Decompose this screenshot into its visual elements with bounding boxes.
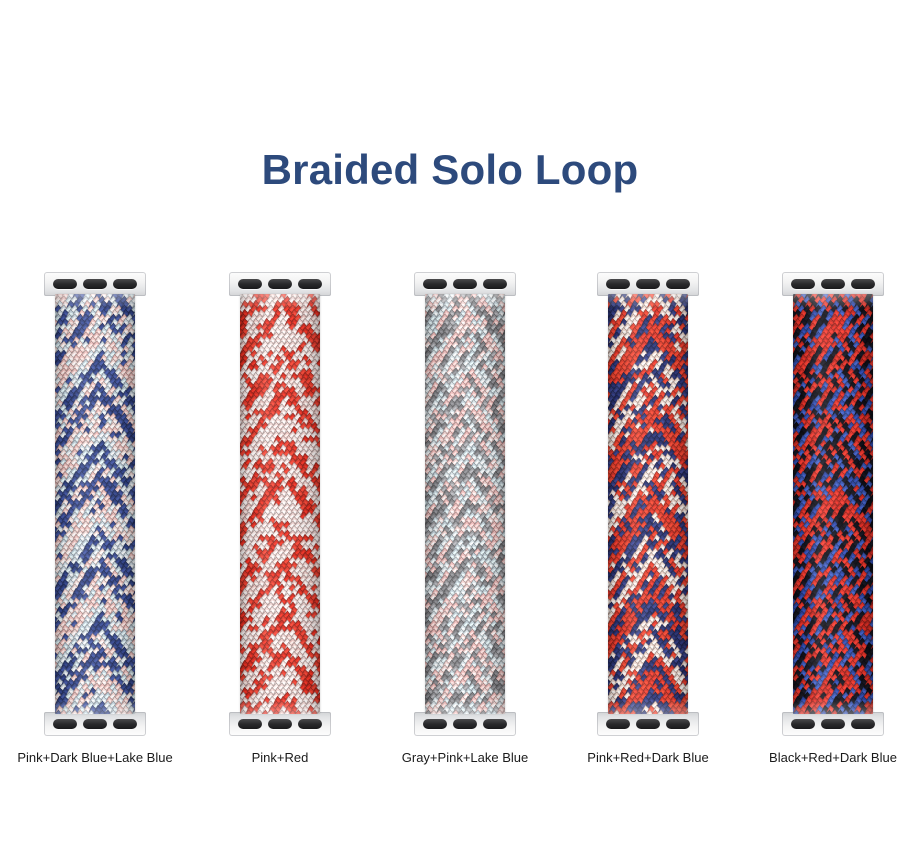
band-figure: [375, 272, 555, 740]
band-item[interactable]: Black+Red+Dark Blue: [743, 272, 900, 792]
braid-texture: [55, 294, 135, 714]
lug-slot: [423, 719, 447, 729]
page-title: Braided Solo Loop: [0, 146, 900, 194]
lug-slot-group: [238, 719, 322, 729]
band-figure: [743, 272, 900, 740]
band-figure: [558, 272, 738, 740]
watch-lug-top: [414, 272, 516, 296]
band-color-label: Pink+Red: [190, 750, 370, 766]
braided-strap: [240, 294, 320, 714]
lug-slot: [483, 279, 507, 289]
lug-slot-group: [423, 719, 507, 729]
watch-lug-top: [782, 272, 884, 296]
braided-strap: [793, 294, 873, 714]
lug-slot: [791, 719, 815, 729]
lug-slot: [606, 719, 630, 729]
band-item[interactable]: Pink+Dark Blue+Lake Blue: [5, 272, 185, 792]
lug-slot: [851, 279, 875, 289]
lug-slot: [268, 719, 292, 729]
band-gallery: Pink+Dark Blue+Lake BluePink+RedGray+Pin…: [0, 272, 900, 792]
lug-slot-group: [606, 719, 690, 729]
watch-lug-bottom: [782, 712, 884, 736]
band-item[interactable]: Pink+Red: [190, 272, 370, 792]
band-item[interactable]: Gray+Pink+Lake Blue: [375, 272, 555, 792]
product-image-canvas: Braided Solo Loop Pink+Dark Blue+Lake Bl…: [0, 0, 900, 862]
band-color-label: Black+Red+Dark Blue: [743, 750, 900, 766]
braid-texture: [425, 294, 505, 714]
lug-slot: [298, 719, 322, 729]
lug-slot: [423, 279, 447, 289]
lug-slot: [821, 719, 845, 729]
lug-slot: [53, 719, 77, 729]
watch-lug-top: [229, 272, 331, 296]
watch-lug-bottom: [597, 712, 699, 736]
lug-slot: [268, 279, 292, 289]
braided-strap: [55, 294, 135, 714]
lug-slot-group: [53, 279, 137, 289]
lug-slot: [238, 719, 262, 729]
band-color-label: Pink+Red+Dark Blue: [558, 750, 738, 766]
lug-slot: [791, 279, 815, 289]
watch-lug-bottom: [229, 712, 331, 736]
lug-slot: [453, 719, 477, 729]
band-item[interactable]: Pink+Red+Dark Blue: [558, 272, 738, 792]
band-figure: [5, 272, 185, 740]
watch-lug-bottom: [414, 712, 516, 736]
lug-slot-group: [606, 279, 690, 289]
band-color-label: Pink+Dark Blue+Lake Blue: [5, 750, 185, 766]
lug-slot: [666, 719, 690, 729]
lug-slot: [606, 279, 630, 289]
braid-texture: [793, 294, 873, 714]
lug-slot-group: [423, 279, 507, 289]
lug-slot-group: [791, 279, 875, 289]
lug-slot: [298, 279, 322, 289]
lug-slot: [821, 279, 845, 289]
watch-lug-top: [44, 272, 146, 296]
braid-texture: [240, 294, 320, 714]
braided-strap: [608, 294, 688, 714]
lug-slot: [636, 279, 660, 289]
braid-texture: [608, 294, 688, 714]
lug-slot: [636, 719, 660, 729]
lug-slot-group: [791, 719, 875, 729]
band-color-label: Gray+Pink+Lake Blue: [375, 750, 555, 766]
band-figure: [190, 272, 370, 740]
watch-lug-bottom: [44, 712, 146, 736]
lug-slot: [113, 279, 137, 289]
lug-slot-group: [53, 719, 137, 729]
lug-slot: [53, 279, 77, 289]
lug-slot: [851, 719, 875, 729]
lug-slot: [483, 719, 507, 729]
braided-strap: [425, 294, 505, 714]
lug-slot: [453, 279, 477, 289]
lug-slot: [666, 279, 690, 289]
lug-slot: [113, 719, 137, 729]
lug-slot: [83, 719, 107, 729]
lug-slot: [238, 279, 262, 289]
watch-lug-top: [597, 272, 699, 296]
lug-slot-group: [238, 279, 322, 289]
lug-slot: [83, 279, 107, 289]
